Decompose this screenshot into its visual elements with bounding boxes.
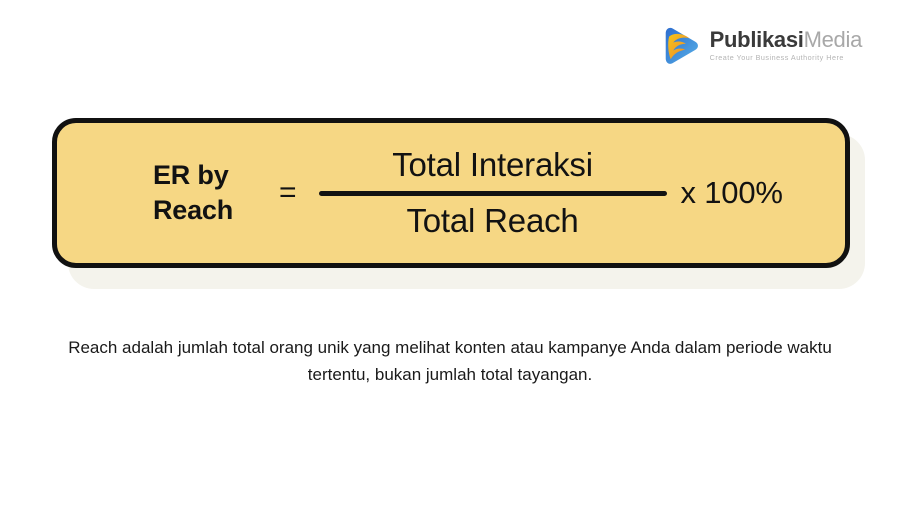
equals-sign: = [279,176,297,210]
brand-logo: PublikasiMedia Create Your Business Auth… [659,24,862,66]
fraction-numerator: Total Interaksi [392,146,593,184]
formula-card: ER by Reach = Total Interaksi Total Reac… [52,118,850,268]
fraction-denominator: Total Reach [406,202,578,240]
logo-wordmark: PublikasiMedia [710,29,862,51]
formula-label-line-1: ER by [153,158,273,193]
formula-label-line-2: Reach [153,193,273,228]
logo-tagline: Create Your Business Authority Here [710,54,862,61]
fraction: Total Interaksi Total Reach [319,146,667,240]
formula-multiplier: x 100% [681,175,783,211]
formula-label: ER by Reach [153,158,273,227]
publikasi-media-play-mark [659,24,701,66]
logo-text: PublikasiMedia Create Your Business Auth… [710,29,862,61]
caption-text: Reach adalah jumlah total orang unik yan… [55,334,845,388]
logo-word-media: Media [804,29,862,51]
fraction-bar [319,191,667,196]
logo-word-publikasi: Publikasi [710,29,804,51]
